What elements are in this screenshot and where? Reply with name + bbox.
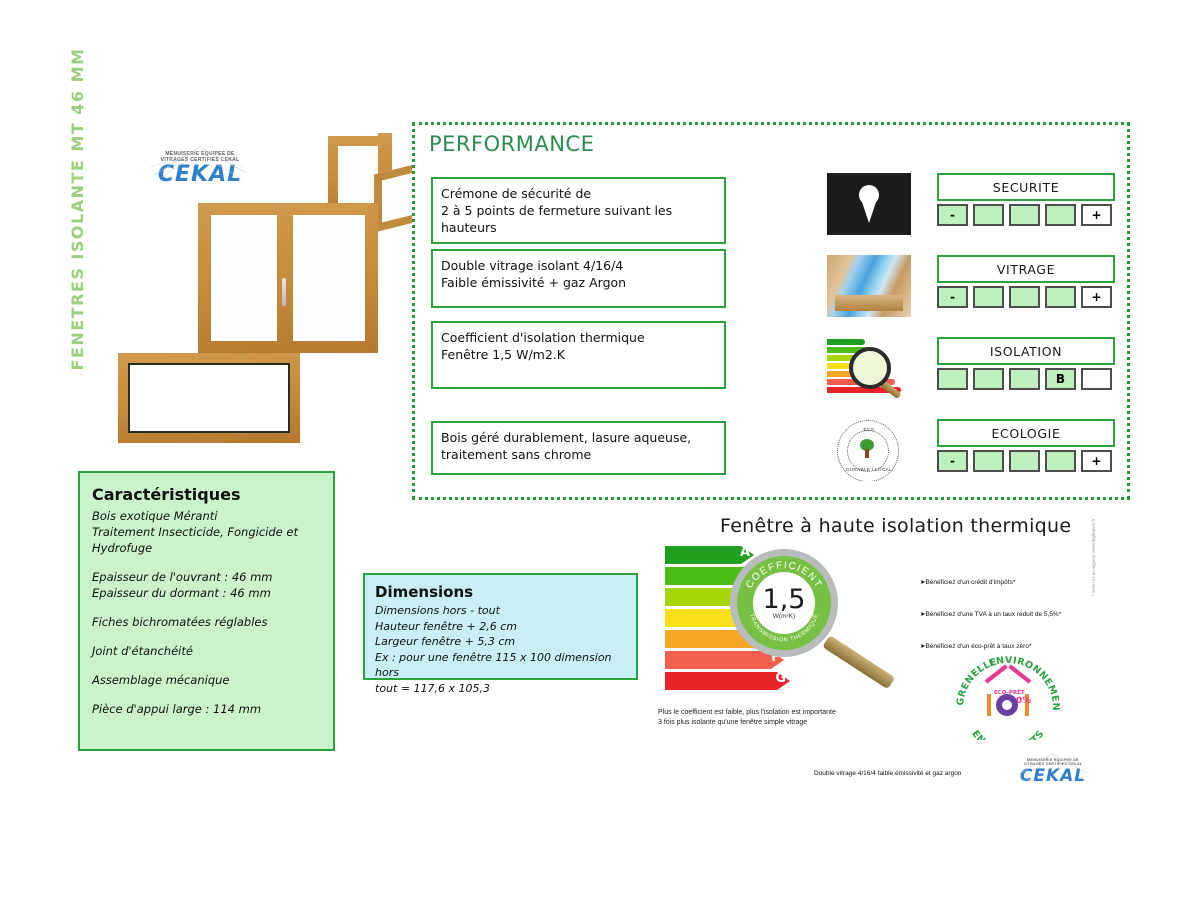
cekal-logo-footer: MENUISERIE EQUIPEE DE VITRAGES CERTIFIES… [1015, 758, 1091, 786]
rating-label-isolation: ISOLATION [937, 337, 1115, 365]
carac-line: Epaisseur du dormant : 46 mm [92, 585, 321, 601]
performance-title: PERFORMANCE [429, 132, 594, 156]
rating-row-securite: SECURITE - + [827, 173, 1123, 231]
magnifier-handle-icon [822, 635, 895, 689]
performance-box-vitrage: Double vitrage isolant 4/16/4Faible émis… [431, 249, 726, 308]
carac-line: Pièce d'appui large : 114 mm [92, 701, 321, 717]
rating-cell[interactable] [937, 368, 968, 390]
rating-label-vitrage: VITRAGE [937, 255, 1115, 283]
dimensions-panel: Dimensions Dimensions hors - tout Hauteu… [363, 573, 638, 680]
benefit-item: ➤Bénéficiez d'un crédit d'impôts* [920, 578, 1061, 588]
rating-row-ecologie: ECO DURABLE / LOCAL ECOLOGIE - + [827, 419, 1123, 477]
slide-page: FENETRES ISOLANTE MT 46 MM MENUISERIE EQ… [0, 0, 1202, 901]
rating-cell[interactable] [973, 204, 1004, 226]
vertical-product-title: FENETRES ISOLANTE MT 46 MM [68, 39, 96, 379]
rating-cell[interactable] [973, 286, 1004, 308]
coefficient-value: 1,5 [763, 587, 806, 613]
rating-cell[interactable]: + [1081, 286, 1112, 308]
rating-cell[interactable]: - [937, 204, 968, 226]
rating-cell[interactable] [1009, 368, 1040, 390]
rating-label-ecologie: ECOLOGIE [937, 419, 1115, 447]
dimensions-title: Dimensions [375, 583, 626, 601]
performance-panel: PERFORMANCE Crémone de sécurité de2 à 5 … [412, 122, 1130, 500]
thermal-section-title: Fenêtre à haute isolation thermique [720, 515, 1071, 537]
cekal-rays-icon [148, 145, 252, 179]
rating-cell[interactable] [1045, 204, 1076, 226]
grenelle-environnement-logo: ENVIRONNEMENT GRENELLE ENGAGEMENTS ECO-P… [953, 656, 1063, 740]
legal-asterisk-note: * selon loi en vigueur www.legifrance.fr [1091, 519, 1096, 596]
rating-cell[interactable] [1009, 450, 1040, 472]
energy-caption-line2: 3 fois plus isolante qu'une fenêtre simp… [658, 718, 836, 728]
performance-box-bois: Bois géré durablement, lasure aqueuse,tr… [431, 421, 726, 475]
rating-scale-ecologie[interactable]: - + [937, 450, 1112, 472]
keyhole-icon [827, 173, 911, 235]
energy-label-g: G [775, 671, 786, 686]
dimensions-line: Hauteur fenêtre + 2,6 cm [375, 619, 626, 635]
benefit-item: ➤Bénéficiez d'une TVA à un taux réduit d… [920, 610, 1061, 620]
energy-caption-line1: Plus le coefficient est faible, plus l'i… [658, 708, 836, 718]
performance-box-cremone: Crémone de sécurité de2 à 5 points de fe… [431, 177, 726, 244]
carac-line: Traitement Insecticide, Fongicide et [92, 524, 321, 540]
caracteristiques-panel: Caractéristiques Bois exotique Méranti T… [78, 471, 335, 751]
svg-text:ENGAGEMENTS: ENGAGEMENTS [969, 729, 1046, 740]
carac-line: Fiches bichromatées réglables [92, 614, 321, 630]
rating-scale-vitrage[interactable]: - + [937, 286, 1112, 308]
rating-cell[interactable] [1009, 286, 1040, 308]
rating-row-isolation: ISOLATION B [827, 337, 1123, 395]
rating-scale-securite[interactable]: - + [937, 204, 1112, 226]
rating-row-vitrage: VITRAGE - + [827, 255, 1123, 313]
dimensions-line: Ex : pour une fenêtre 115 x 100 dimensio… [375, 650, 626, 681]
rating-cell[interactable]: - [937, 286, 968, 308]
carac-line: Joint d'étanchéité [92, 643, 321, 659]
energy-caption: Plus le coefficient est faible, plus l'i… [658, 708, 836, 728]
window-photo-icon [827, 255, 911, 317]
footer-glazing-note: Double vitrage 4/16/4 faible émissivité … [814, 770, 961, 777]
carac-line: Bois exotique Méranti [92, 508, 321, 524]
cekal-rays-icon [1015, 752, 1091, 778]
rating-cell[interactable] [973, 368, 1004, 390]
benefit-item: ➤Bénéficiez d'un éco-prêt à taux zéro* [920, 642, 1061, 652]
dimensions-line: Dimensions hors - tout [375, 603, 626, 619]
rating-cell[interactable]: - [937, 450, 968, 472]
rating-cell[interactable]: + [1081, 204, 1112, 226]
carac-line: Assemblage mécanique [92, 672, 321, 688]
rating-cell[interactable] [1009, 204, 1040, 226]
rating-cell[interactable] [1045, 450, 1076, 472]
benefit-label: Bénéficiez d'une TVA à un taux réduit de… [925, 611, 1061, 618]
slide-sheet: FENETRES ISOLANTE MT 46 MM MENUISERIE EQ… [8, 8, 1194, 893]
rating-cell[interactable] [973, 450, 1004, 472]
rating-cell[interactable] [1081, 368, 1112, 390]
rating-cell-b[interactable]: B [1045, 368, 1076, 390]
coefficient-unit: W(m²K) [773, 613, 795, 620]
caracteristiques-title: Caractéristiques [92, 485, 321, 504]
coefficient-value-bubble: 1,5 W(m²K) [753, 572, 815, 634]
energy-magnifier-icon [827, 337, 911, 399]
rating-label-securite: SECURITE [937, 173, 1115, 201]
benefit-label: Bénéficiez d'un éco-prêt à taux zéro* [925, 643, 1031, 650]
house-icon: ECO-PRÊT 0% [986, 680, 1030, 716]
rating-cell[interactable]: + [1081, 450, 1112, 472]
eco-stamp-icon: ECO DURABLE / LOCAL [827, 419, 911, 481]
dimensions-line: tout = 117,6 x 105,3 [375, 681, 626, 697]
rating-scale-isolation[interactable]: B [937, 368, 1112, 390]
carac-line: Hydrofuge [92, 540, 321, 556]
carac-line: Epaisseur de l'ouvrant : 46 mm [92, 569, 321, 585]
percent-label: 0% [1016, 696, 1031, 706]
performance-box-coefficient: Coefficient d'isolation thermiqueFenêtre… [431, 321, 726, 389]
coefficient-magnifier: COEFFICIENT TRANSMISSION THERMIQUE 1,5 W… [730, 549, 838, 657]
cekal-logo: MENUISERIE EQUIPEE DE VITRAGES CERTIFIES… [148, 151, 252, 187]
rating-cell[interactable] [1045, 286, 1076, 308]
dimensions-line: Largeur fenêtre + 5,3 cm [375, 634, 626, 650]
benefit-label: Bénéficiez d'un crédit d'impôts* [925, 579, 1015, 586]
